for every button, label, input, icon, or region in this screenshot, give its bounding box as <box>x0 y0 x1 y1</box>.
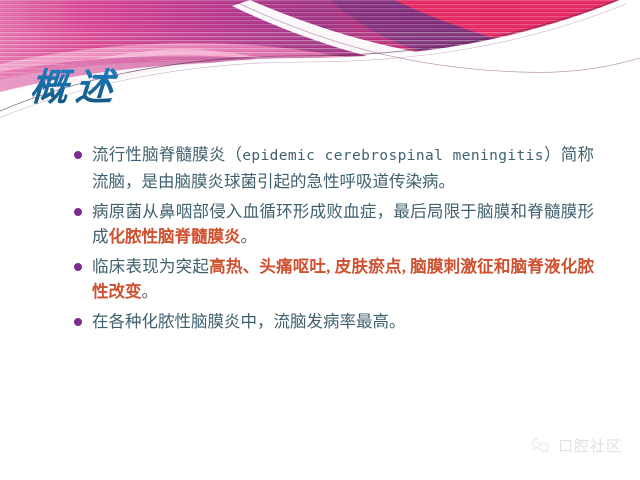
bullet-4-seg-0: 在各种化脓性脑膜炎中，流脑发病率最高。 <box>92 312 406 331</box>
watermark: 口腔社区 <box>531 435 622 456</box>
slide-canvas: 概述 流行性脑脊髓膜炎（epidemic cerebrospinal menin… <box>0 0 640 480</box>
bullet-marker-icon <box>74 208 82 216</box>
bullet-marker-icon <box>74 318 82 326</box>
bullet-2-highlight: 化脓性脑脊髓膜炎 <box>109 227 241 246</box>
bullet-text-1: 流行性脑脊髓膜炎（epidemic cerebrospinal meningit… <box>92 142 594 194</box>
bullet-text-3: 临床表现为突起高热、头痛呕吐, 皮肤瘀点, 脑膜刺激征和脑脊液化脓性改变。 <box>92 254 594 304</box>
bullet-1-seg-0: 流行性脑脊髓膜炎（ <box>92 145 242 164</box>
list-item: 流行性脑脊髓膜炎（epidemic cerebrospinal meningit… <box>74 142 594 194</box>
bullet-1-seg-1-english: epidemic cerebrospinal meningitis <box>242 148 544 164</box>
list-item: 临床表现为突起高热、头痛呕吐, 皮肤瘀点, 脑膜刺激征和脑脊液化脓性改变。 <box>74 254 594 304</box>
bullet-text-2: 病原菌从鼻咽部侵入血循环形成败血症，最后局限于脑膜和脊髓膜形成化脓性脑脊髓膜炎。 <box>92 199 594 249</box>
bullet-marker-icon <box>74 263 82 271</box>
bullet-text-4: 在各种化脓性脑膜炎中，流脑发病率最高。 <box>92 309 594 334</box>
page-title: 概述 <box>29 68 331 106</box>
bullet-3-seg-2: 。 <box>142 282 159 301</box>
title-container: 概述 <box>30 68 330 126</box>
bullet-3-seg-0: 临床表现为突起 <box>92 257 209 276</box>
watermark-label: 口腔社区 <box>558 435 622 456</box>
list-item: 在各种化脓性脑膜炎中，流脑发病率最高。 <box>74 309 594 334</box>
content-body: 流行性脑脊髓膜炎（epidemic cerebrospinal meningit… <box>74 142 594 339</box>
list-item: 病原菌从鼻咽部侵入血循环形成败血症，最后局限于脑膜和脊髓膜形成化脓性脑脊髓膜炎。 <box>74 199 594 249</box>
bullet-2-seg-2: 。 <box>241 227 258 246</box>
bullet-marker-icon <box>74 151 82 159</box>
wechat-icon <box>531 437 551 454</box>
